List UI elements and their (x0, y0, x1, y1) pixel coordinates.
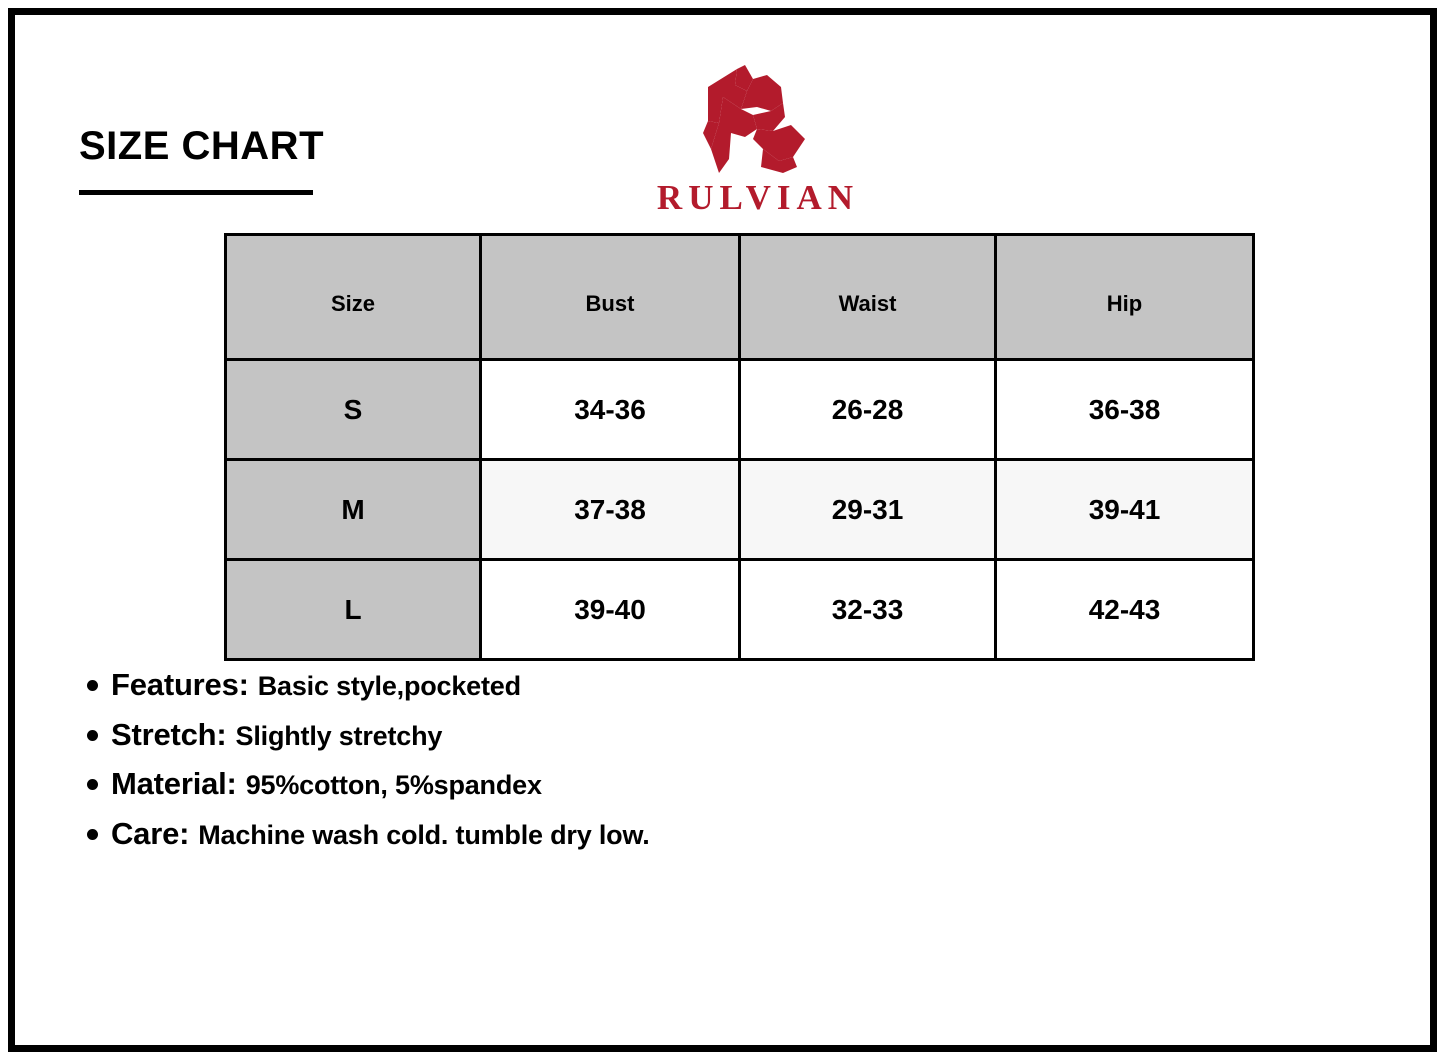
table-body: S 34-36 26-28 36-38 M 37-38 29-31 39-41 … (226, 360, 1254, 660)
rulvian-r-monogram-icon (675, 63, 835, 175)
cell-hip: 39-41 (996, 460, 1254, 560)
column-header-hip: Hip (996, 235, 1254, 360)
detail-label-stretch: Stretch: (111, 717, 227, 752)
page-border-frame: SIZE CHART RULVIAN (8, 8, 1437, 1052)
title-underline-rule (79, 190, 313, 195)
title-block: SIZE CHART (79, 125, 499, 195)
cell-waist: 26-28 (740, 360, 996, 460)
table-header: Size Bust Waist Hip (226, 235, 1254, 360)
list-item: Care:Machine wash cold. tumble dry low. (79, 816, 979, 853)
cell-bust: 37-38 (481, 460, 740, 560)
detail-label-material: Material: (111, 766, 237, 801)
table-row: S 34-36 26-28 36-38 (226, 360, 1254, 460)
cell-waist: 29-31 (740, 460, 996, 560)
list-item: Features:Basic style,pocketed (79, 667, 979, 704)
page-title: SIZE CHART (79, 125, 499, 167)
detail-value-features: Basic style,pocketed (258, 671, 521, 701)
detail-value-material: 95%cotton, 5%spandex (246, 770, 542, 800)
cell-size: S (226, 360, 481, 460)
brand-wordmark: RULVIAN (615, 179, 895, 218)
cell-hip: 36-38 (996, 360, 1254, 460)
column-header-waist: Waist (740, 235, 996, 360)
table-row: M 37-38 29-31 39-41 (226, 460, 1254, 560)
detail-label-care: Care: (111, 816, 189, 851)
detail-label-features: Features: (111, 667, 249, 702)
detail-value-stretch: Slightly stretchy (236, 721, 443, 751)
cell-size: L (226, 560, 481, 660)
size-chart-table: Size Bust Waist Hip S 34-36 26-28 36-38 … (224, 233, 1255, 661)
size-chart-page: SIZE CHART RULVIAN (0, 0, 1445, 1060)
list-item: Stretch:Slightly stretchy (79, 717, 979, 754)
cell-bust: 34-36 (481, 360, 740, 460)
table-header-row: Size Bust Waist Hip (226, 235, 1254, 360)
detail-value-care: Machine wash cold. tumble dry low. (198, 820, 649, 850)
column-header-size: Size (226, 235, 481, 360)
brand-logo: RULVIAN (615, 63, 895, 218)
table-row: L 39-40 32-33 42-43 (226, 560, 1254, 660)
product-details-list: Features:Basic style,pocketed Stretch:Sl… (79, 667, 979, 865)
column-header-bust: Bust (481, 235, 740, 360)
cell-hip: 42-43 (996, 560, 1254, 660)
cell-bust: 39-40 (481, 560, 740, 660)
cell-size: M (226, 460, 481, 560)
list-item: Material:95%cotton, 5%spandex (79, 766, 979, 803)
cell-waist: 32-33 (740, 560, 996, 660)
